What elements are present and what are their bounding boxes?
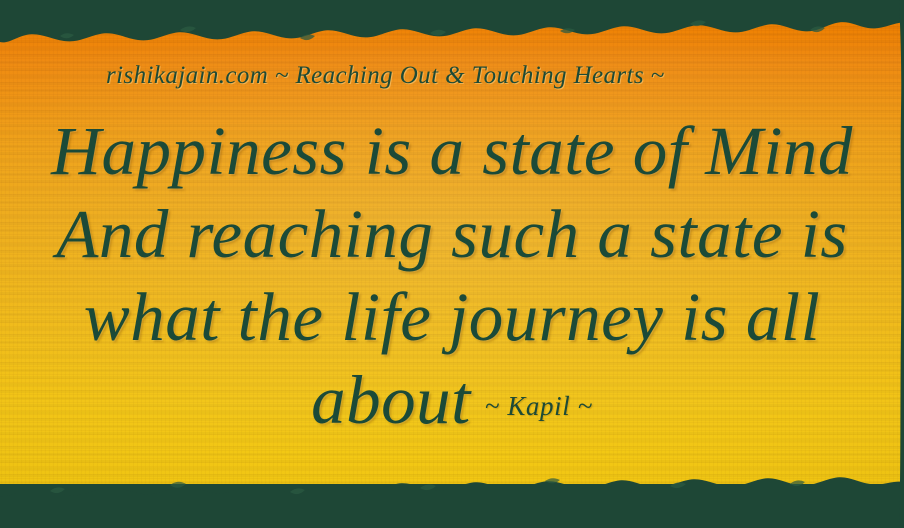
quote-line-1: Happiness is a state of Mind <box>0 112 904 191</box>
quote-image-card: rishikajain.com ~ Reaching Out & Touchin… <box>0 0 904 528</box>
quote-line-4: about <box>311 362 471 438</box>
text-layer: rishikajain.com ~ Reaching Out & Touchin… <box>0 0 904 528</box>
quote-line-3: what the life journey is all <box>0 278 904 357</box>
quote-line-4-row: about~ Kapil ~ <box>0 361 904 440</box>
quote-attribution: ~ Kapil ~ <box>485 391 593 421</box>
quote-line-2: And reaching such a state is <box>0 195 904 274</box>
site-credit-header: rishikajain.com ~ Reaching Out & Touchin… <box>106 62 665 90</box>
